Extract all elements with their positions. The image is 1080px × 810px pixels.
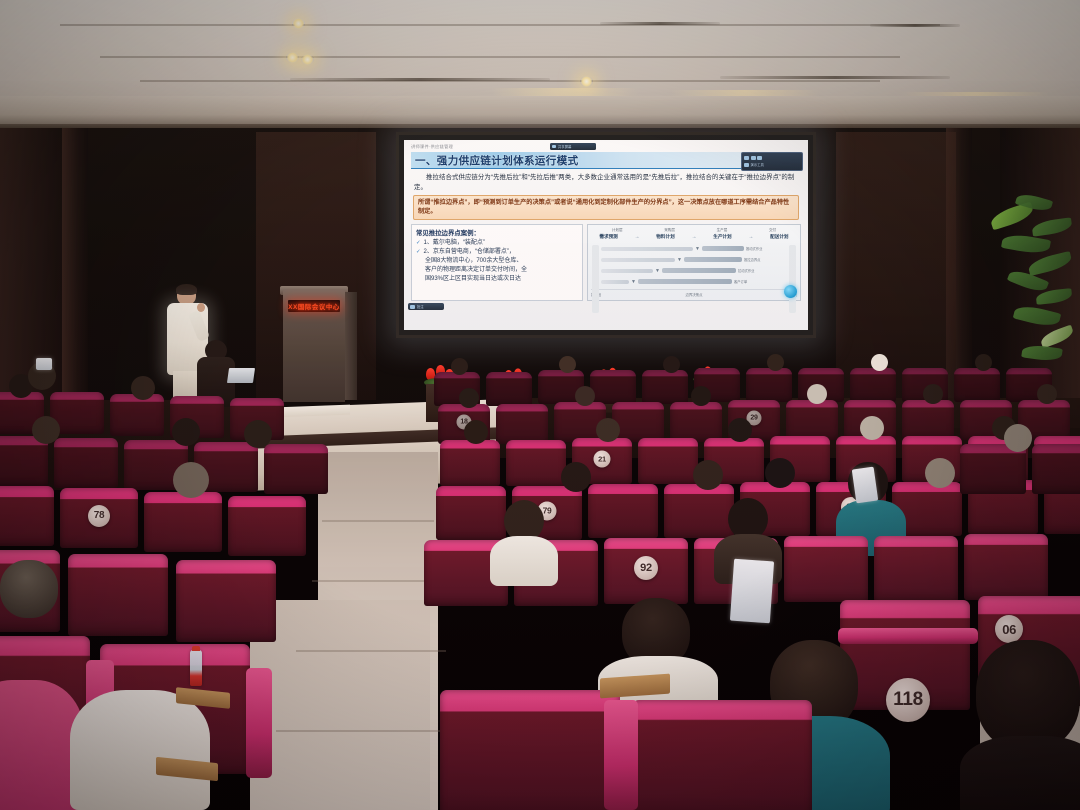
audience-member (572, 386, 598, 412)
tablet[interactable] (730, 559, 774, 624)
audience-member (688, 386, 714, 412)
seat[interactable] (176, 560, 276, 642)
audience-member (920, 384, 946, 410)
audience-member (804, 384, 830, 410)
arrow-right-icon: → (748, 234, 753, 240)
audience-member (240, 420, 276, 456)
seat[interactable]: 78 (60, 488, 138, 548)
slide-meta-header: 讲师课件·供应链管理 (411, 144, 801, 150)
seat[interactable] (228, 496, 306, 556)
annotation-toolbar[interactable]: 批注 (408, 303, 444, 310)
presentation-float-toolbar[interactable]: 演示工具 (741, 152, 803, 171)
armrest (246, 668, 272, 778)
marker-triangle-icon: ▼ (677, 257, 682, 263)
screen-share-tab[interactable]: 共享屏幕 (550, 143, 596, 150)
seat[interactable] (486, 372, 532, 406)
seat[interactable] (0, 486, 54, 546)
ceiling-light-slot (720, 76, 950, 79)
slide-flow-diagram: 计划层 采购层 生产层 交付 需求预测 → 物料计划 → 生产计划 → (587, 224, 801, 301)
screen-share-label: 共享屏幕 (558, 144, 572, 149)
slide-highlight-box: 所谓“推拉边界点”，即“预测到订单生产的决策点”或者说“通用化到定制化部件生产的… (413, 195, 799, 220)
presenter-hand (197, 303, 205, 312)
smartphone[interactable] (852, 467, 879, 504)
flow-node: 物料计划 (656, 234, 674, 240)
audience-member (556, 356, 578, 378)
diagram-column-header: 交付 (769, 228, 776, 233)
audience-member (972, 354, 994, 376)
bullet-continuation: 客户的物理距离决定订单交付时间，全 (416, 266, 578, 275)
bullet-text: 1、戴尔电脑，“装配点” (424, 239, 485, 248)
conference-hall-scene: 讲师课件·供应链管理 共享屏幕 一、强力供应链计划体系运行模式 推拉结合式供应链… (0, 0, 1080, 810)
seat[interactable] (632, 700, 812, 810)
audience-member (456, 388, 482, 414)
diagram-row-label: 拉动式作业 (738, 268, 754, 273)
wall-column-left (62, 128, 88, 428)
seat[interactable] (496, 404, 548, 444)
podium-side-panel (345, 292, 357, 400)
pen-icon (410, 305, 415, 309)
diagram-footer-mid: 边界决策点 (686, 292, 703, 297)
audience-member (556, 462, 596, 502)
share-icon (552, 145, 556, 148)
audience-member (660, 356, 682, 378)
ceiling-light-slot (870, 24, 960, 27)
diagram-column-header: 计划层 (612, 228, 623, 233)
diagram-row-label: 客户订单 (734, 279, 747, 284)
seat[interactable] (964, 534, 1048, 600)
bullet-continuation: 国93%区上区目实现当日达或次日达 (416, 275, 578, 284)
seat[interactable] (784, 536, 868, 602)
audience-member (1034, 384, 1060, 410)
check-icon: ✓ (416, 239, 421, 248)
audience-member (448, 358, 470, 380)
audience-member (168, 418, 204, 454)
arrow-right-icon: → (635, 234, 640, 240)
ceiling-spotlight (580, 76, 593, 87)
flow-node: 生产计划 (713, 234, 731, 240)
cursor-highlight-dot (784, 285, 797, 298)
projection-screen: 讲师课件·供应链管理 共享屏幕 一、强力供应链计划体系运行模式 推拉结合式供应链… (396, 132, 816, 338)
laptop (227, 368, 255, 383)
slide-title: 一、强力供应链计划体系运行模式 (411, 153, 579, 168)
audience-member (460, 420, 492, 452)
audience-member (592, 418, 624, 450)
water-bottle[interactable] (190, 650, 202, 686)
bullets-heading: 常见推拉边界点案例： (416, 228, 578, 237)
audience-member (868, 354, 890, 376)
arrow-right-icon: → (691, 234, 696, 240)
slide-bullet-panel: 常见推拉边界点案例： ✓ 1、戴尔电脑，“装配点” ✓ 2、京东自营电商，“仓储… (411, 224, 583, 301)
audience-member-white-shirt (70, 690, 210, 810)
audience-member (496, 500, 550, 570)
audience-member (128, 376, 158, 406)
list-item: ✓ 1、戴尔电脑，“装配点” (416, 239, 578, 248)
screen-surface: 讲师课件·供应链管理 共享屏幕 一、强力供应链计划体系运行模式 推拉结合式供应链… (404, 140, 808, 330)
flow-node: 需求预测 (599, 234, 617, 240)
audience-member (688, 460, 728, 500)
bullet-continuation: 全国8大物流中心，700余大型仓库、 (416, 257, 578, 266)
seat-number: 92 (634, 556, 658, 580)
audience-member (1000, 424, 1036, 460)
marker-triangle-icon: ▼ (695, 246, 700, 252)
info-icon (744, 163, 749, 167)
diagram-row-label: 推动式作业 (746, 246, 762, 251)
ceiling-light-slot (600, 22, 720, 25)
close-icon[interactable] (757, 156, 762, 160)
annotation-label: 批注 (417, 304, 424, 309)
seat-number: 06 (995, 615, 1023, 643)
diagram-row-label: 推拉边界点 (744, 257, 760, 262)
audience-member (720, 498, 774, 568)
seat[interactable]: 92 (604, 538, 688, 604)
marker-triangle-icon: ▼ (655, 268, 660, 274)
center-aisle-lower (250, 600, 430, 810)
audience-member (760, 458, 800, 498)
presenter-hair (176, 284, 197, 295)
seat-number: 118 (886, 678, 930, 722)
restore-icon[interactable] (751, 156, 756, 160)
presentation-slide: 讲师课件·供应链管理 共享屏幕 一、强力供应链计划体系运行模式 推拉结合式供应链… (404, 140, 808, 330)
diagram-column-header: 生产层 (717, 228, 728, 233)
seat[interactable] (588, 484, 658, 538)
slide-paragraph: 推拉结合式供应链分为“先推后拉”和“先拉后推”两类，大多数企业通常选用的是“先推… (411, 173, 801, 192)
diagram-column-header: 采购层 (664, 228, 675, 233)
audience-member (970, 640, 1080, 810)
list-item: ✓ 2、京东自营电商，“仓储部署点”， (416, 248, 578, 257)
seat-number: 21 (594, 451, 611, 468)
podium-led-sign: XX国际会议中心 (288, 300, 340, 312)
audience-member (168, 462, 214, 508)
audience-member (724, 418, 756, 450)
check-icon: ✓ (416, 248, 421, 257)
audience-member (920, 458, 960, 498)
float-toolbar-label: 演示工具 (751, 162, 765, 167)
potted-plant (950, 190, 1080, 380)
audience-member (856, 416, 888, 448)
seat[interactable] (874, 536, 958, 602)
ceiling-spotlight (286, 52, 299, 63)
ceiling-light-slot (290, 78, 550, 81)
seat[interactable] (1032, 444, 1080, 494)
wood-wall-band (836, 132, 956, 400)
seat[interactable] (440, 690, 620, 810)
minimize-icon[interactable] (744, 156, 749, 160)
bottle-cap (192, 646, 200, 651)
seat-number: 78 (88, 505, 110, 527)
ceiling (0, 0, 1080, 128)
armrest (604, 700, 638, 810)
ceiling-spotlight (301, 54, 314, 65)
smartphone[interactable] (36, 358, 52, 370)
marker-triangle-icon: ▼ (631, 279, 636, 285)
audience-member (764, 354, 786, 376)
podium-led-text: XX国际会议中心 (288, 302, 340, 311)
ceiling-spotlight (292, 18, 305, 29)
seat[interactable] (68, 554, 168, 636)
audience-member (28, 416, 64, 452)
bullet-text: 2、京东自营电商，“仓储部署点”， (424, 248, 515, 257)
flow-node: 配送计划 (770, 234, 788, 240)
